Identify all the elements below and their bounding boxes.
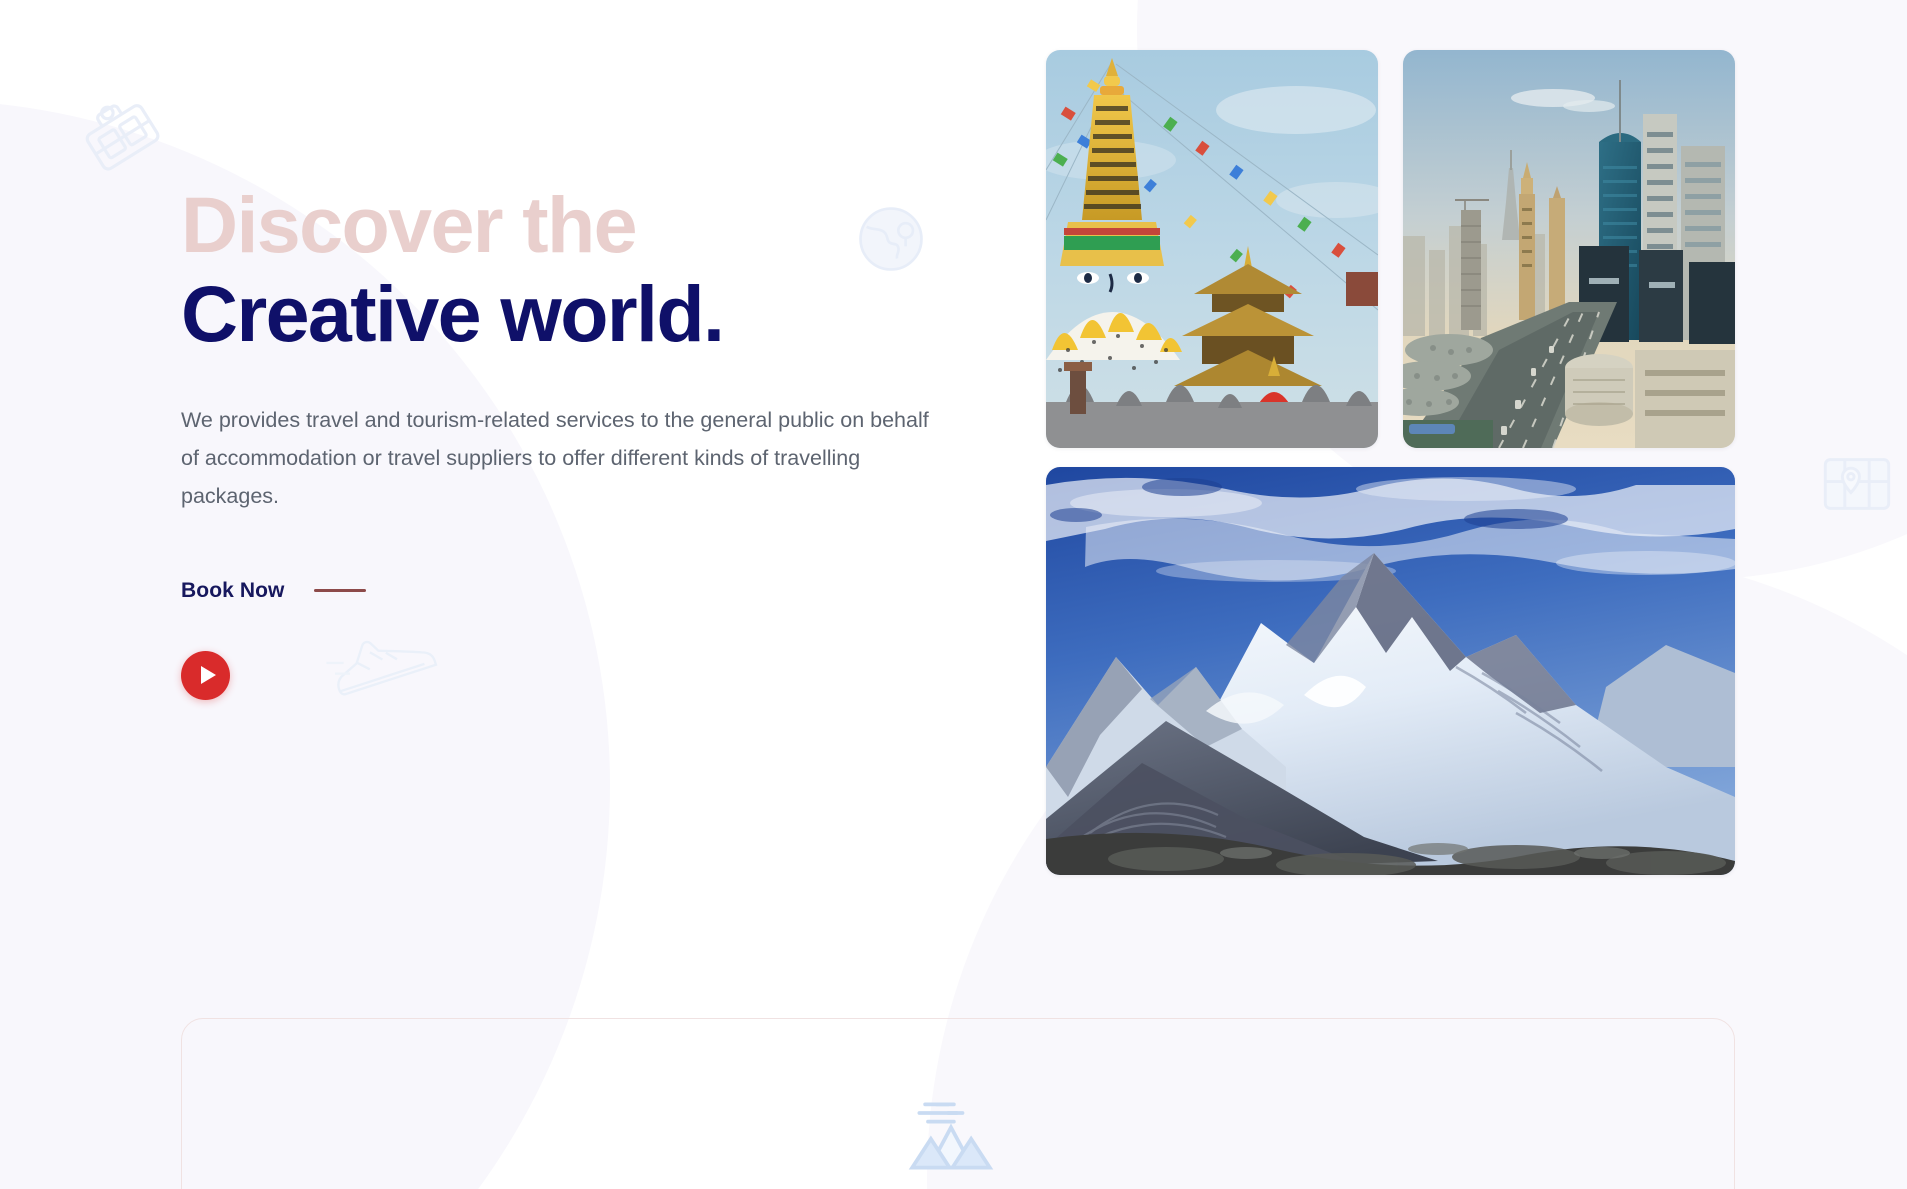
book-now-link[interactable]: Book Now [181,579,284,603]
headline-line-muted: Discover the [181,184,971,265]
bottom-feature-card [181,1018,1735,1189]
play-icon [201,666,216,684]
play-video-button[interactable] [181,651,230,700]
cta-underline-rule [314,589,366,592]
gallery-image-stupa[interactable] [1046,50,1378,448]
headline-line-primary: Creative world. [181,273,971,354]
page-title: Discover the Creative world. [181,184,971,355]
hero-section: Discover the Creative world. We provides… [0,0,1907,1000]
cta-row: Book Now [181,579,971,603]
hero-description: We provides travel and tourism-related s… [181,401,951,516]
hero-copy-block: Discover the Creative world. We provides… [181,184,971,700]
gallery-image-city[interactable] [1403,50,1735,448]
landing-page: Discover the Creative world. We provides… [0,0,1907,1189]
gallery-image-everest[interactable] [1046,467,1735,875]
